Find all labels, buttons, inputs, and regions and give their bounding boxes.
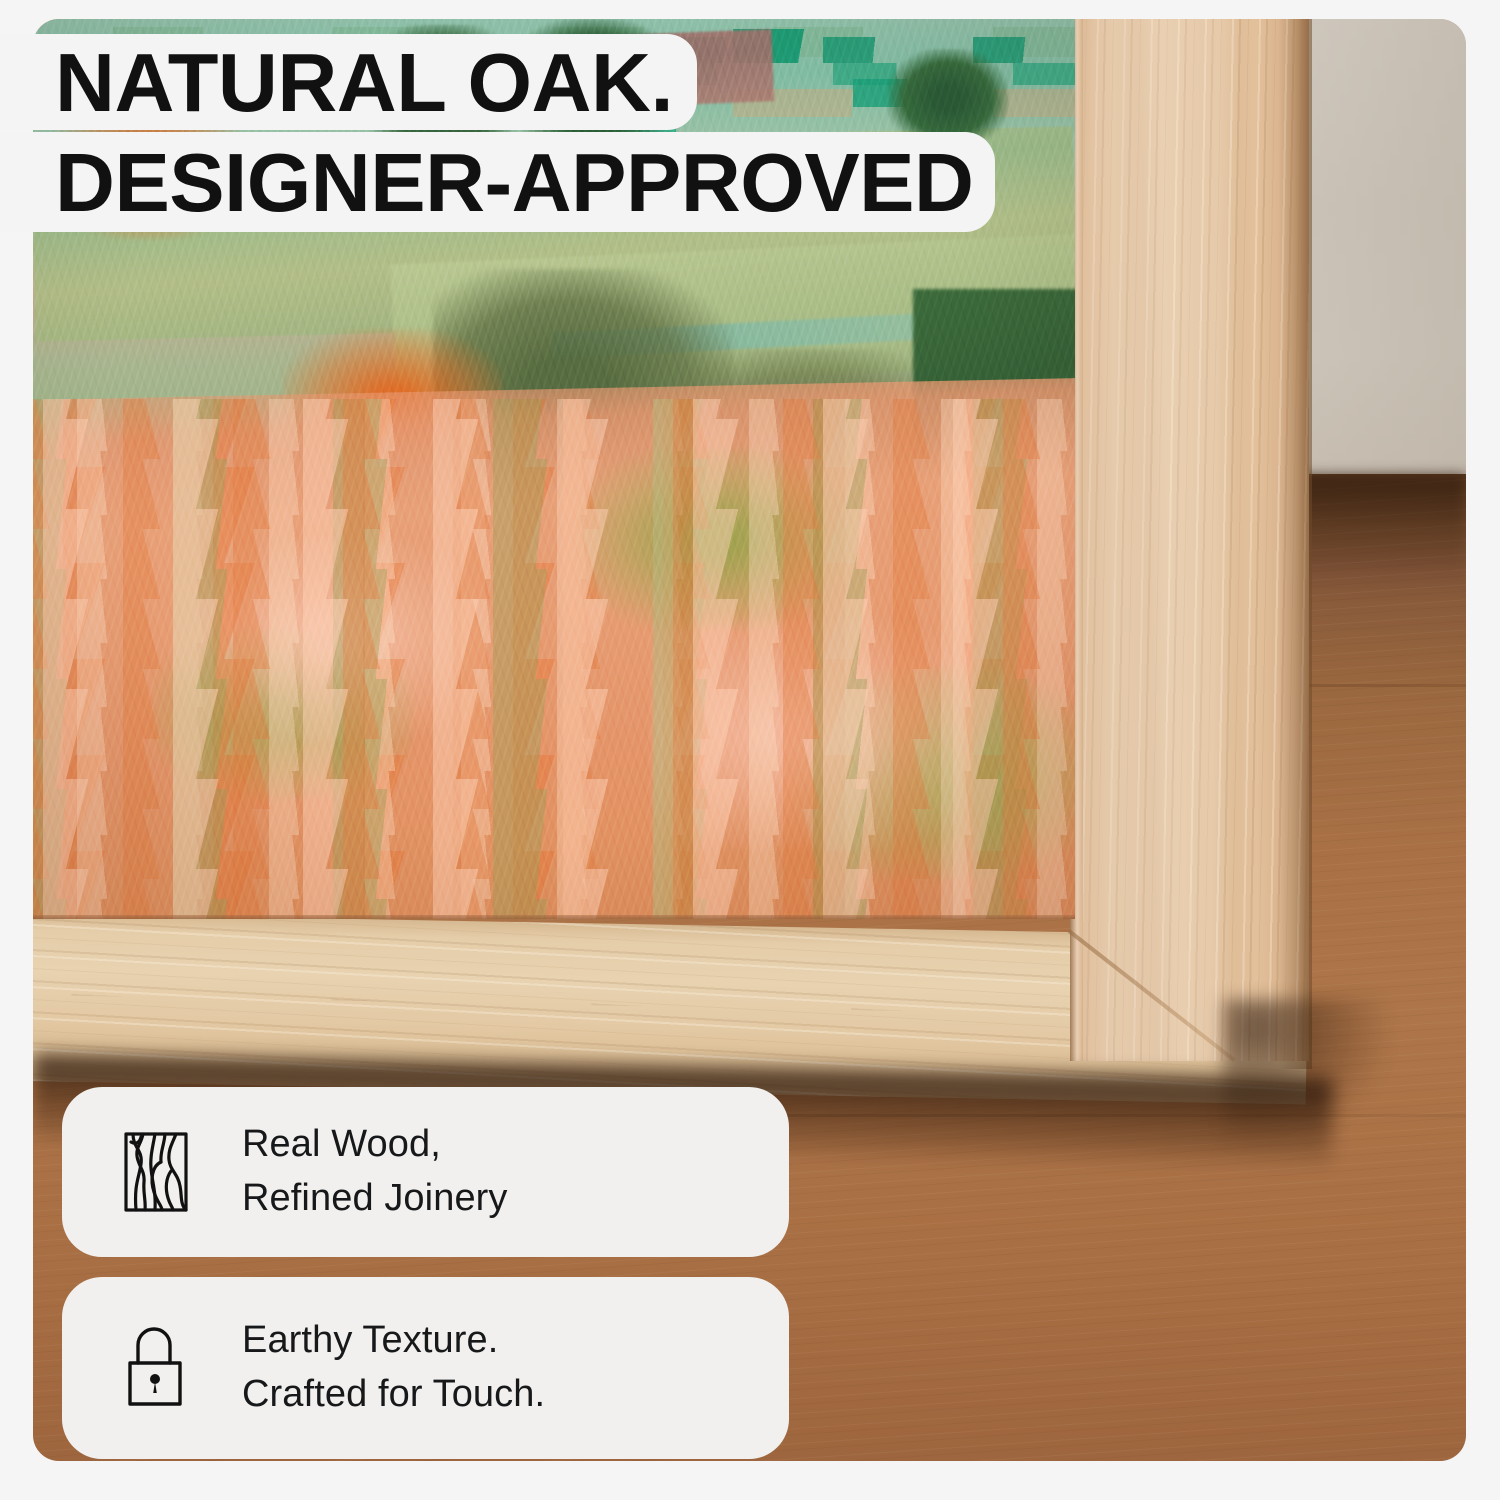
headline-line-2: DESIGNER-APPROVED	[0, 132, 995, 232]
frame-right-rail	[1070, 19, 1309, 1061]
feature-badge-earthy-texture-text: Earthy Texture. Crafted for Touch.	[242, 1314, 545, 1422]
feature-badge-earthy-texture[interactable]: Earthy Texture. Crafted for Touch.	[62, 1277, 789, 1459]
badge-line: Crafted for Touch.	[242, 1368, 545, 1422]
feature-badge-real-wood-text: Real Wood, Refined Joinery	[242, 1118, 508, 1226]
padlock-icon	[108, 1320, 204, 1416]
badge-line: Refined Joinery	[242, 1172, 508, 1226]
wood-grain-icon	[108, 1124, 204, 1220]
frame-right-grain-streaks	[1070, 19, 1309, 1061]
badge-line: Real Wood,	[242, 1118, 508, 1172]
headline-line-1: NATURAL OAK.	[0, 34, 697, 130]
frame-corner-shadow	[1223, 999, 1393, 1149]
product-marketing-image: NATURAL OAK. DESIGNER-APPROVED Real Wood…	[0, 0, 1500, 1500]
badge-line: Earthy Texture.	[242, 1314, 545, 1368]
feature-badge-real-wood[interactable]: Real Wood, Refined Joinery	[62, 1087, 789, 1257]
artwork-bottom-edge	[33, 915, 1075, 919]
frame-outer-edge-shading	[1278, 19, 1312, 1069]
